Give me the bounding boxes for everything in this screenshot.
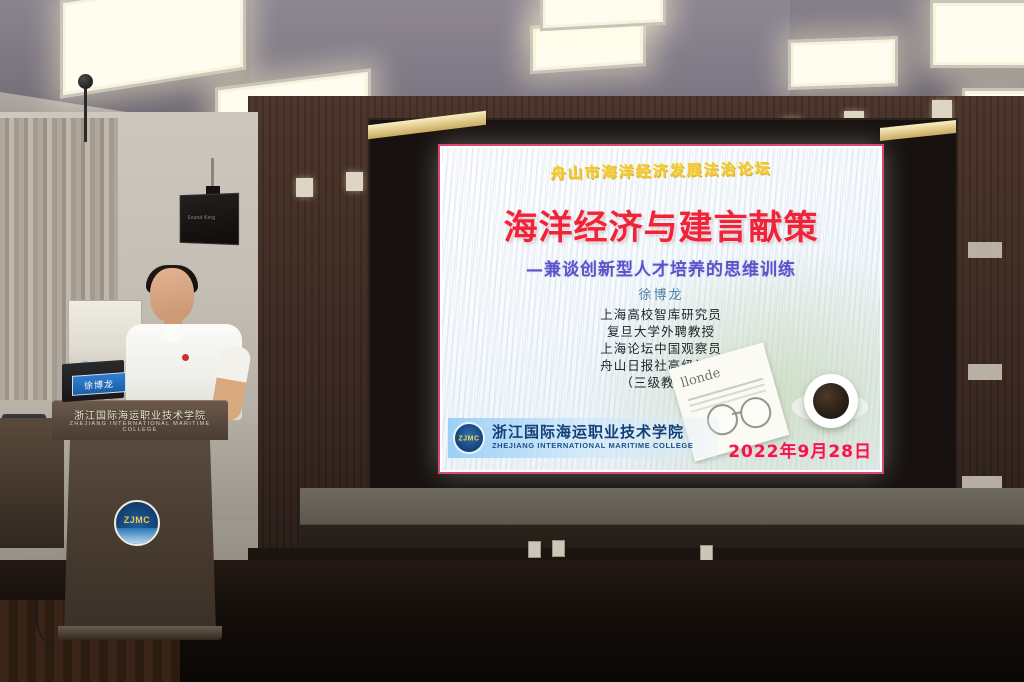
presenter <box>120 268 246 418</box>
nameplate-text: 徐博龙 <box>73 376 125 393</box>
slide-credential-line: 上海高校智库研究员 <box>442 306 880 323</box>
power-outlet <box>528 541 541 558</box>
lecture-hall-photo: Sound King 舟山市海洋经济发展法治论坛 海洋经济与建言献策 —兼谈创新… <box>0 0 1024 682</box>
microphone-stem <box>84 82 87 142</box>
college-name-cn: 浙江国际海运职业技术学院 <box>492 421 684 442</box>
stage-lower-wall <box>300 488 1024 554</box>
book-title-text: llonde <box>679 366 722 392</box>
light-diffuser <box>546 0 660 25</box>
microphone-icon <box>78 74 93 89</box>
ceiling-light-panel <box>788 36 898 90</box>
college-name-en: ZHEJIANG INTERNATIONAL MARITIME COLLEGE <box>492 441 693 450</box>
college-seal-icon: ZJMC <box>453 422 485 454</box>
wall-accent-panel <box>968 242 1002 258</box>
wall-light-inset <box>346 172 363 191</box>
college-logo-bar: ZJMC 浙江国际海运职业技术学院 ZHEJIANG INTERNATIONAL… <box>448 418 718 458</box>
slide-subtitle: —兼谈创新型人才培养的思维训练 <box>442 255 880 280</box>
light-diffuser <box>936 6 1024 62</box>
light-diffuser <box>794 42 892 83</box>
speaker-brand-label: Sound King <box>187 215 215 221</box>
light-diffuser <box>536 24 640 67</box>
slide-header-text: 舟山市海洋经济发展法治论坛 <box>442 155 880 186</box>
coffee-cup <box>804 374 858 428</box>
presentation-slide: 舟山市海洋经济发展法治论坛 海洋经济与建言献策 —兼谈创新型人才培养的思维训练 … <box>440 146 882 472</box>
podium: 浙江国际海运职业技术学院 ZHEJIANG INTERNATIONAL MARI… <box>52 400 228 648</box>
ceiling-light-panel <box>930 0 1024 68</box>
desk-nameplate: 徐博龙 <box>72 372 126 396</box>
podium-seal-initials: ZJMC <box>124 515 151 525</box>
podium-seal-wave <box>116 528 158 544</box>
slide-date: 2022年9月28日 <box>728 437 872 462</box>
speaker-mount-arm <box>211 158 214 188</box>
podium-seal-icon: ZJMC <box>114 500 160 546</box>
podium-base <box>58 626 222 640</box>
wall-light-inset <box>296 178 313 197</box>
power-outlet <box>552 540 565 557</box>
lapel-pin-icon <box>182 354 189 361</box>
podium-name-en: ZHEJIANG INTERNATIONAL MARITIME COLLEGE <box>52 421 228 433</box>
wall-accent-panel <box>968 364 1002 380</box>
slide-title: 海洋经济与建言献策 <box>442 200 880 249</box>
slide-speaker-name: 徐博龙 <box>442 284 880 303</box>
wall-speaker: Sound King <box>180 193 239 245</box>
podium-top: 浙江国际海运职业技术学院 ZHEJIANG INTERNATIONAL MARI… <box>52 400 228 440</box>
seal-initials: ZJMC <box>458 435 479 442</box>
podium-name-cn: 浙江国际海运职业技术学院 <box>52 407 228 422</box>
presenter-head <box>150 268 194 322</box>
